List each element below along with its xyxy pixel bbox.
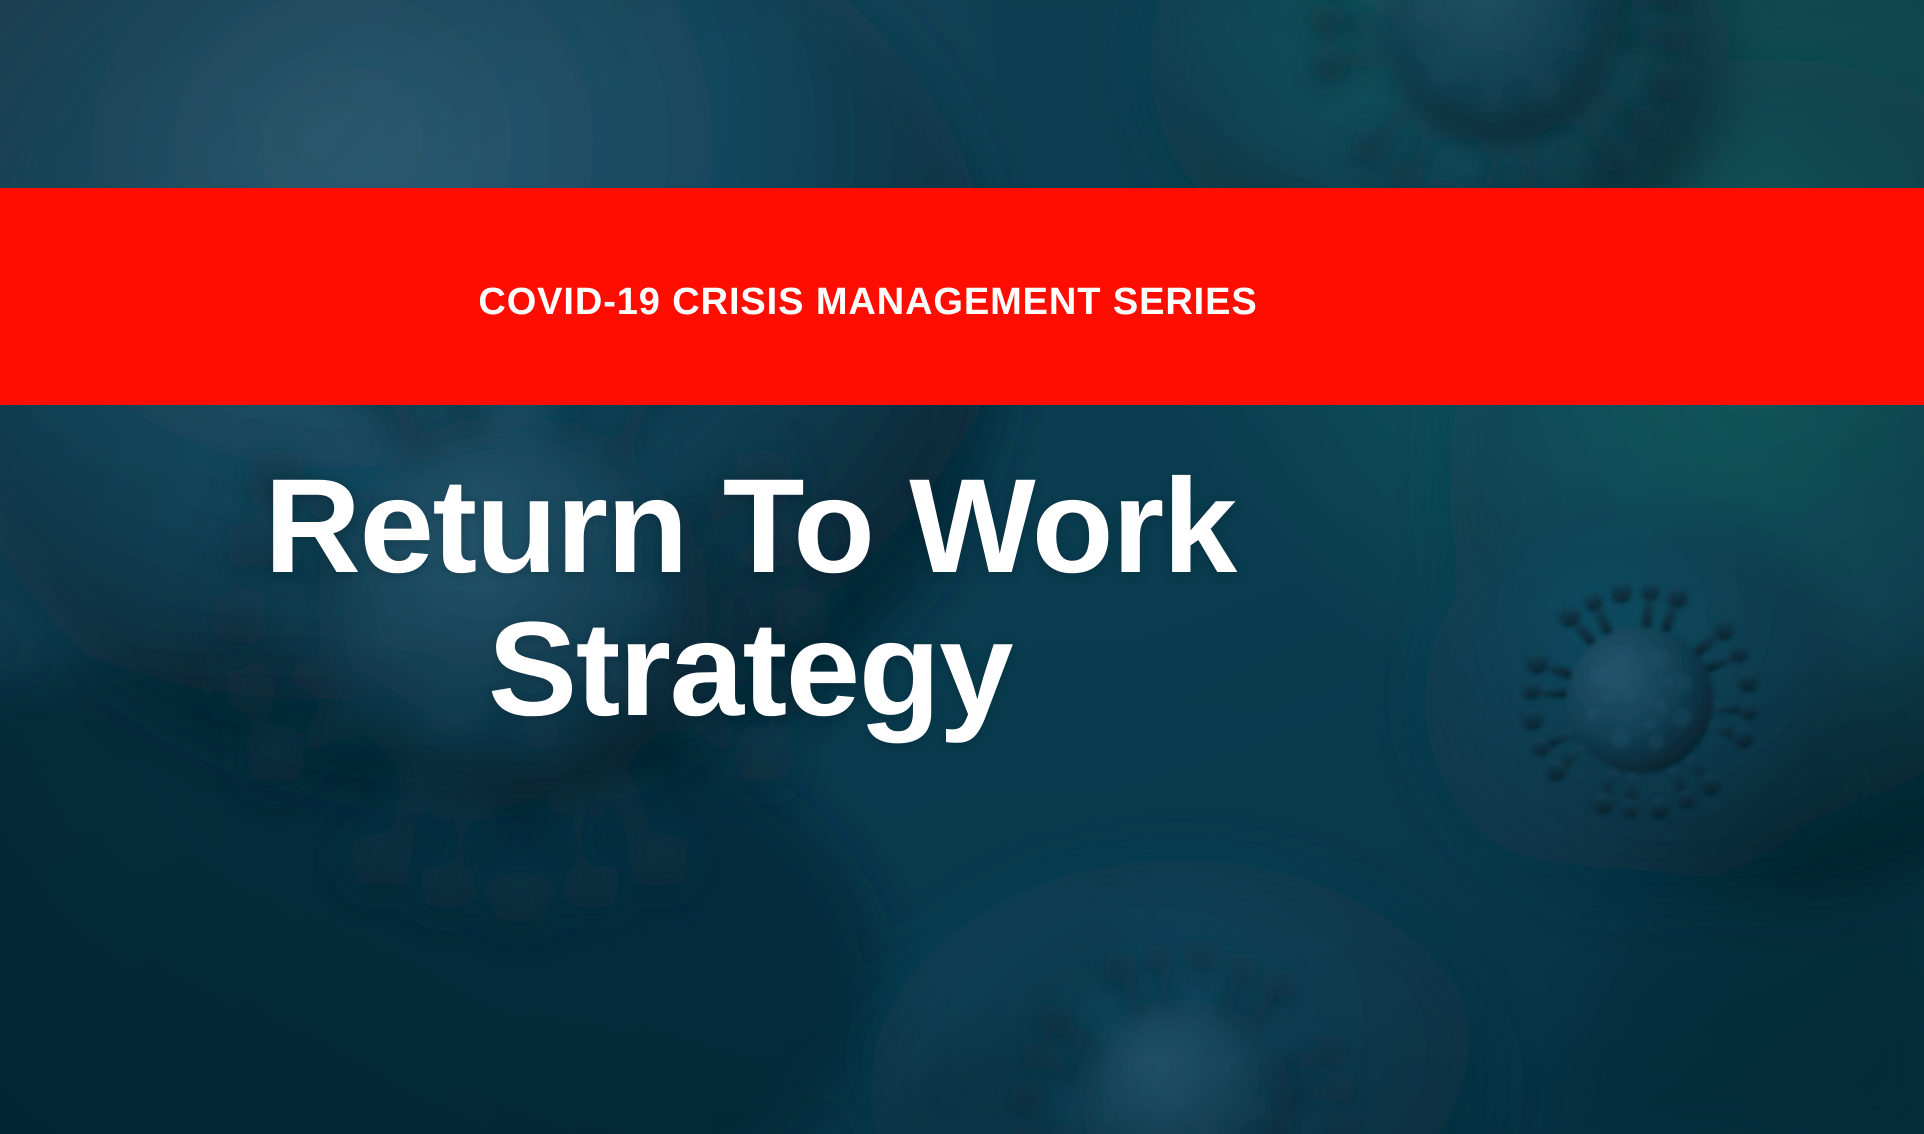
coronavirus-bottom-center — [992, 922, 1377, 1134]
page-title: Return To Work Strategy — [0, 455, 1500, 742]
page-title-line-2: Strategy — [0, 598, 1500, 741]
page-title-line-1: Return To Work — [0, 455, 1500, 598]
series-banner: COVID-19 CRISIS MANAGEMENT SERIES — [0, 188, 1924, 405]
series-banner-label: COVID-19 CRISIS MANAGEMENT SERIES — [478, 283, 1257, 321]
coronavirus-right — [1501, 561, 1780, 840]
slide-canvas: COVID-19 CRISIS MANAGEMENT SERIES Return… — [0, 0, 1924, 1134]
